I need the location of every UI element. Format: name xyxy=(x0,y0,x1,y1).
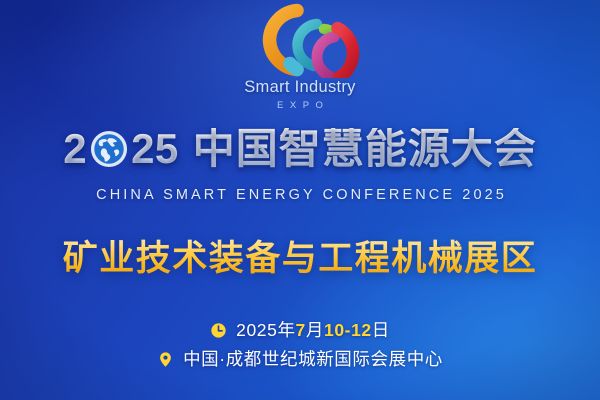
map-pin-icon xyxy=(157,351,174,368)
logo-sub-text: EXPO xyxy=(271,101,330,111)
date-month-unit: 月 xyxy=(306,320,324,340)
date-line: 2025年7月10-12日 xyxy=(210,322,390,340)
title-chinese: 中国智慧能源大会 xyxy=(193,128,537,170)
date-text: 2025年7月10-12日 xyxy=(236,322,390,340)
conference-poster: Smart Industry EXPO 2 25 中国智慧能源大会 CHINA … xyxy=(0,0,600,400)
expo-logo: Smart Industry EXPO xyxy=(0,2,600,110)
smart-industry-expo-arcs-logo xyxy=(234,2,366,78)
zone-headline: 矿业技术装备与工程机械展区 xyxy=(0,238,600,279)
clock-icon xyxy=(210,322,227,339)
date-month-num: 7 xyxy=(296,320,306,340)
main-title: 2 25 中国智慧能源大会 xyxy=(0,128,600,170)
globe-icon xyxy=(90,130,128,168)
title-year-prefix: 2 xyxy=(63,128,87,170)
date-year: 2025年 xyxy=(236,320,295,340)
title-english-subtitle: CHINA SMART ENERGY CONFERENCE 2025 xyxy=(0,188,600,203)
date-day-unit: 日 xyxy=(372,320,390,340)
location-text: 中国·成都世纪城新国际会展中心 xyxy=(183,351,443,369)
info-block: 2025年7月10-12日 中国·成都世纪城新国际会展中心 xyxy=(0,322,600,368)
title-year-suffix: 25 xyxy=(131,128,179,170)
logo-name-text: Smart Industry xyxy=(244,79,355,96)
date-days: 10-12 xyxy=(324,320,372,340)
location-line: 中国·成都世纪城新国际会展中心 xyxy=(157,351,443,369)
